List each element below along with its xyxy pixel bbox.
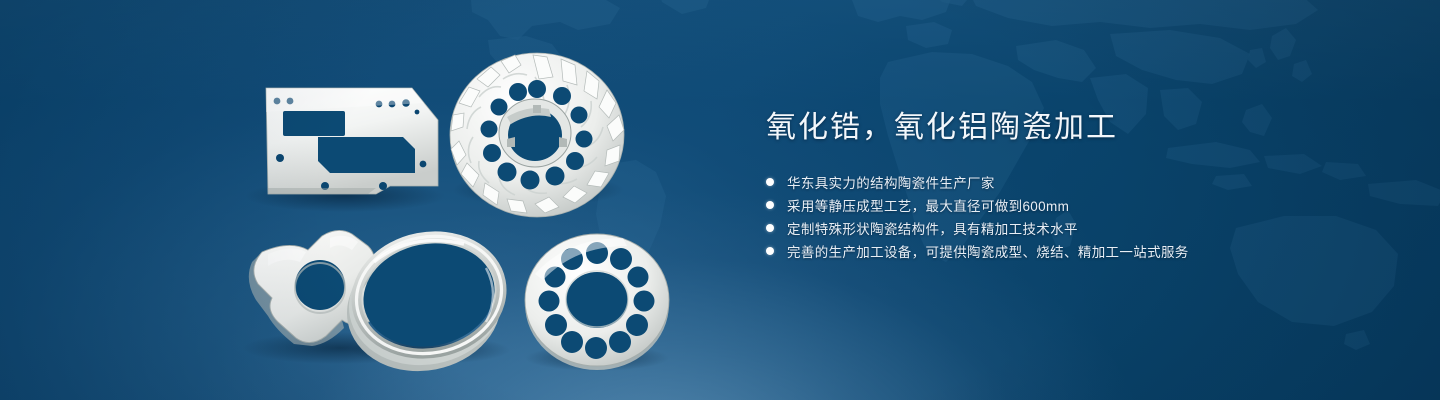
bullet-dot-icon: [766, 224, 774, 232]
list-item: 华东具实力的结构陶瓷件生产厂家: [766, 171, 1386, 193]
banner-copy: 氧化锆，氧化铝陶瓷加工 华东具实力的结构陶瓷件生产厂家 采用等静压成型工艺，最大…: [766, 108, 1386, 263]
list-item: 定制特殊形状陶瓷结构件，具有精加工技术水平: [766, 217, 1386, 239]
bullet-dot-icon: [766, 247, 774, 255]
list-item: 采用等静压成型工艺，最大直径可做到600mm: [766, 194, 1386, 216]
list-item-label: 定制特殊形状陶瓷结构件，具有精加工技术水平: [787, 218, 1078, 238]
list-item-label: 华东具实力的结构陶瓷件生产厂家: [787, 172, 995, 192]
page-title: 氧化锆，氧化铝陶瓷加工: [766, 108, 1386, 149]
bullet-dot-icon: [766, 201, 774, 209]
list-item: 完善的生产加工设备，可提供陶瓷成型、烧结、精加工一站式服务: [766, 240, 1386, 262]
list-item-label: 完善的生产加工设备，可提供陶瓷成型、烧结、精加工一站式服务: [787, 241, 1189, 261]
hero-banner: 氧化锆，氧化铝陶瓷加工 华东具实力的结构陶瓷件生产厂家 采用等静压成型工艺，最大…: [0, 0, 1440, 400]
list-item-label: 采用等静压成型工艺，最大直径可做到600mm: [787, 195, 1069, 215]
bullet-dot-icon: [766, 178, 774, 186]
feature-list: 华东具实力的结构陶瓷件生产厂家 采用等静压成型工艺，最大直径可做到600mm 定…: [766, 171, 1386, 262]
